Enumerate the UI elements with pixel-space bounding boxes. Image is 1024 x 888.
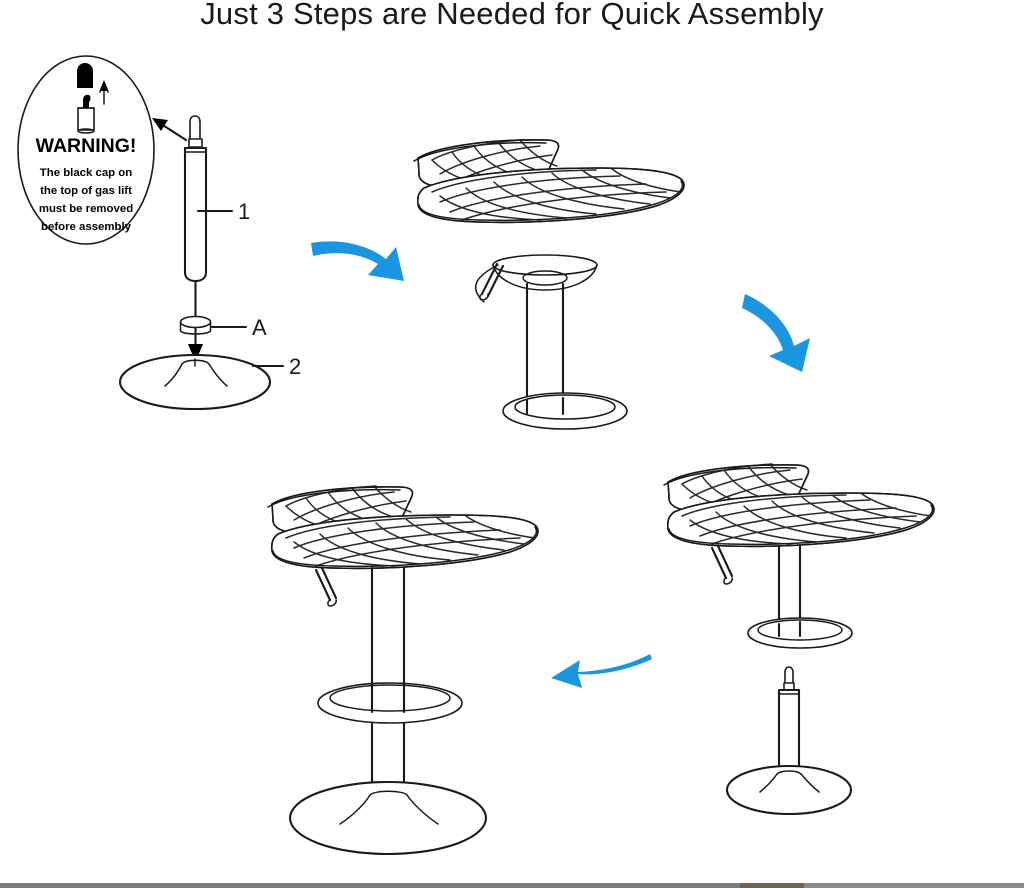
footrest-ring-part-3 [318,682,462,723]
bottom-bar-segment-right [804,883,1024,888]
base-part [120,355,270,409]
bottom-bar-segment-left [0,883,740,888]
step-2-group [414,140,684,429]
arrow-step3-to-step4[interactable] [551,654,652,688]
bottom-bar-segment-middle [740,883,804,888]
assembly-instruction-sheet: Just 3 Steps are Needed for Quick Assemb… [0,0,1024,888]
footrest-ring-part [503,393,627,429]
warning-line-1: The black cap on [40,167,132,179]
arrow-step2-to-step3[interactable] [742,294,810,372]
bottom-edge-bar [0,883,1024,888]
gas-lift-part [185,116,206,281]
warning-label: WARNING! The black cap on the top of gas… [18,56,154,244]
step-4-group [268,486,538,854]
quilted-seat-part [414,140,684,222]
callout-label-A: A [252,315,267,340]
arrow-step1-to-step2[interactable] [311,241,404,281]
seat-pedestal-assembly-part [664,464,934,648]
warning-line-2: the top of gas lift [40,185,132,197]
assembled-stool-part [268,486,538,854]
pedestal-column-part [476,255,627,429]
callout-washer: A [212,315,267,340]
warning-line-4: before assembly [41,221,132,233]
callout-label-1: 1 [238,199,250,224]
warning-pointer-arrow [152,118,186,140]
warning-heading: WARNING! [36,135,137,157]
assembly-diagram: .ln { fill:none; stroke:#1a1a1a; stroke-… [0,0,1024,888]
step-3-group [664,464,934,814]
height-lever-part-3 [316,568,336,606]
callout-label-2: 2 [289,354,301,379]
warning-line-3: must be removed [39,203,133,215]
gas-lift-in-base-part [727,667,851,814]
height-lever-part-2 [712,546,732,584]
